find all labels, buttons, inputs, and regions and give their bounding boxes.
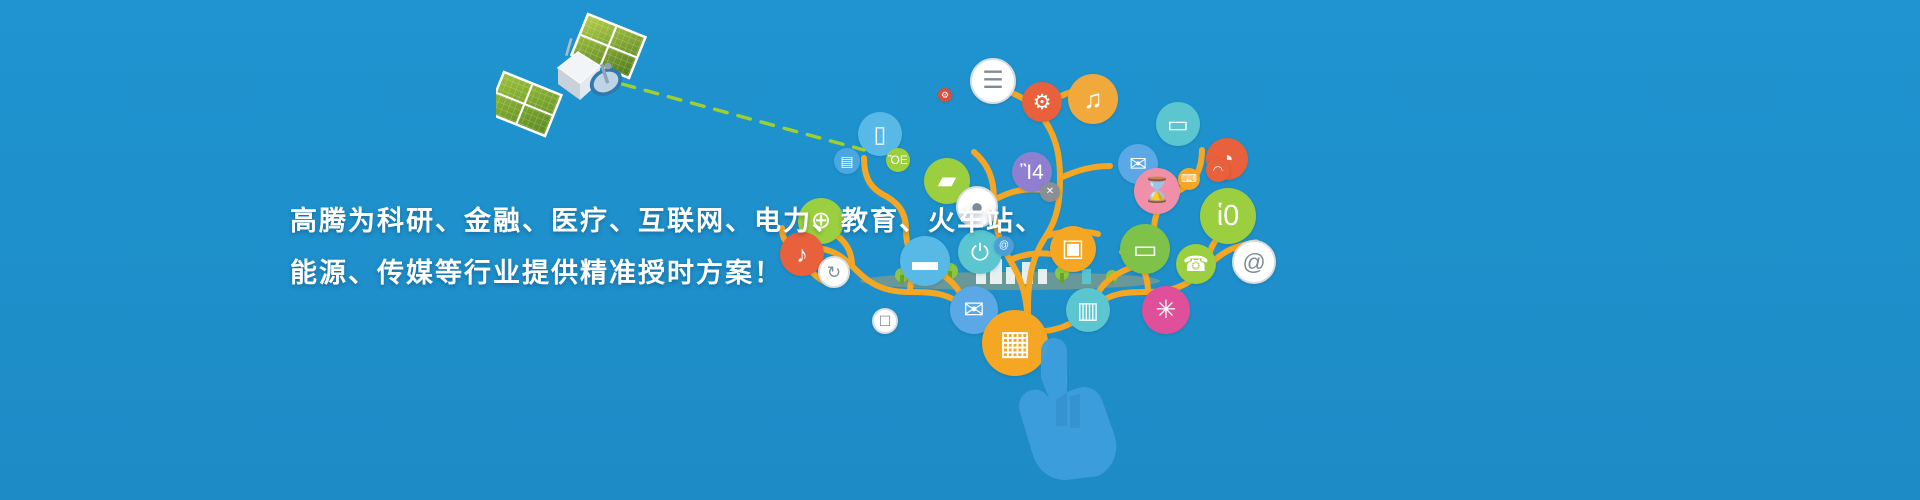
hand-pointer — [1010, 330, 1130, 485]
hourglass-icon: ⌛ — [1134, 168, 1180, 214]
keyboard-icon-glyph: ⌨ — [1181, 174, 1197, 185]
document-icon-glyph: ☰ — [982, 69, 1004, 93]
envelope-icon-glyph: ✉ — [964, 298, 985, 323]
camera-icon-glyph: ▣ — [1062, 237, 1085, 261]
asterisk-icon-glyph: ✳ — [1156, 298, 1177, 323]
news-icon-glyph: ▥ — [1077, 299, 1099, 322]
phone-icon: ☎ — [1176, 244, 1216, 284]
phone-icon-glyph: ☎ — [1183, 254, 1209, 275]
hourglass-icon-glyph: ⌛ — [1142, 179, 1172, 203]
document-icon: ☰ — [970, 58, 1016, 104]
display-icon: ☐ — [872, 308, 898, 334]
headline-line-2: 能源、传媒等行业提供精准授时方案！ — [290, 248, 910, 300]
news-icon: ▥ — [1066, 288, 1110, 332]
gear-icon: ⚙ — [1022, 82, 1062, 122]
rss-icon: ◠ — [1206, 158, 1230, 182]
headline-line-1: 高腾为科研、金融、医疗、互联网、电力、教育、火车站、 — [290, 196, 910, 248]
at-sign-icon-glyph: @ — [999, 241, 1009, 251]
gear-icon-glyph: ⚙ — [1033, 92, 1052, 113]
at-circle-icon-glyph: @ — [1242, 251, 1265, 274]
folder-icon-glyph: ▰ — [938, 169, 956, 193]
promotional-banner: ☰⚙⚙♫▭◔▯▤ὌE✉▰Ἲ4⌛⌨ἱ0●✕⊕⏻▣▭@◠@☎▬♪↻✉▥✳☐▦ — [0, 0, 1920, 500]
at-sign-icon: @ — [994, 236, 1014, 256]
power-icon-glyph: ⏻ — [971, 241, 989, 264]
headline-block: 高腾为科研、金融、医疗、互联网、电力、教育、火车站、 能源、传媒等行业提供精准授… — [290, 196, 910, 300]
rss-icon-glyph: ◠ — [1213, 164, 1223, 176]
satellite-illustration — [496, 10, 676, 150]
close-icon-glyph: ✕ — [1046, 187, 1054, 197]
globe-icon-glyph: ἱ0 — [1217, 202, 1240, 231]
monitor-icon: ▭ — [1120, 224, 1170, 274]
monitor-icon-glyph: ▭ — [1133, 236, 1158, 262]
laptop-icon-glyph: ▬ — [912, 248, 938, 274]
close-icon: ✕ — [1040, 182, 1060, 202]
tablet-icon-glyph: ▭ — [1167, 113, 1189, 136]
gear-small-icon-glyph: ⚙ — [941, 91, 949, 100]
globe-icon: ἱ0 — [1200, 188, 1256, 244]
headphones-icon: ♫ — [1068, 74, 1118, 124]
microphone-icon-glyph: Ἲ4 — [1020, 162, 1044, 183]
camera-icon: ▣ — [1050, 226, 1096, 272]
display-icon-glyph: ☐ — [879, 314, 892, 328]
keyboard-icon: ⌨ — [1178, 168, 1200, 190]
at-circle-icon: @ — [1232, 240, 1276, 284]
tablet-icon: ▭ — [1156, 102, 1200, 146]
headphones-icon-glyph: ♫ — [1083, 86, 1103, 112]
gear-small-icon: ⚙ — [938, 88, 952, 102]
asterisk-icon: ✳ — [1142, 286, 1190, 334]
